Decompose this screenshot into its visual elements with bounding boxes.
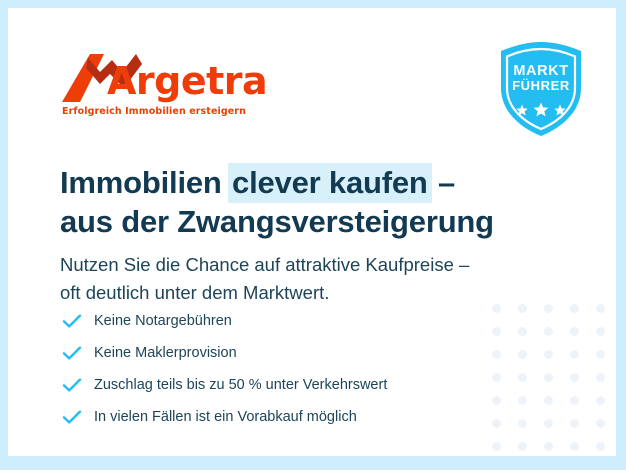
- dot: [596, 373, 605, 382]
- dot: [596, 304, 605, 313]
- dot: [570, 419, 579, 428]
- dot: [596, 442, 605, 451]
- dot: [544, 327, 553, 336]
- dot: [544, 419, 553, 428]
- list-item-label: Zuschlag teils bis zu 50 % unter Verkehr…: [86, 377, 387, 393]
- check-icon: [62, 377, 86, 393]
- market-leader-badge: MARKT FÜHRER: [495, 40, 587, 138]
- dot: [596, 396, 605, 405]
- dot: [570, 442, 579, 451]
- dot: [570, 396, 579, 405]
- list-item-label: Keine Notargebühren: [86, 313, 232, 329]
- subtitle-line-1: Nutzen Sie die Chance auf attraktive Kau…: [60, 254, 469, 275]
- dot: [596, 419, 605, 428]
- subtitle: Nutzen Sie die Chance auf attraktive Kau…: [60, 251, 530, 307]
- badge-stars: [495, 102, 587, 121]
- dot: [518, 396, 527, 405]
- dot: [596, 350, 605, 359]
- headline-line-2: aus der Zwangsversteigerung: [60, 204, 494, 239]
- argetra-logo[interactable]: Argetra Erfolgreich Immobilien ersteiger…: [60, 50, 250, 118]
- list-item: Zuschlag teils bis zu 50 % unter Verkehr…: [62, 369, 512, 401]
- list-item-label: Keine Maklerprovision: [86, 345, 237, 361]
- subtitle-line-2: oft deutlich unter dem Marktwert.: [60, 282, 329, 303]
- dot: [544, 304, 553, 313]
- dot: [518, 327, 527, 336]
- dot: [570, 304, 579, 313]
- check-icon: [62, 345, 86, 361]
- headline-highlight: clever kaufen: [228, 163, 432, 203]
- logo-tagline: Erfolgreich Immobilien ersteigern: [62, 106, 246, 117]
- dot: [518, 373, 527, 382]
- check-icon: [62, 409, 86, 425]
- dot: [570, 327, 579, 336]
- logo-wordmark: Argetra: [107, 62, 267, 100]
- badge-line-2: FÜHRER: [495, 79, 587, 93]
- dot: [596, 327, 605, 336]
- dot: [544, 442, 553, 451]
- dot: [492, 442, 501, 451]
- dot: [518, 350, 527, 359]
- dot: [570, 373, 579, 382]
- page-title: Immobilien clever kaufen –aus der Zwangs…: [60, 163, 530, 241]
- banner-card: Argetra Erfolgreich Immobilien ersteiger…: [8, 8, 616, 456]
- dot: [570, 350, 579, 359]
- dot: [544, 350, 553, 359]
- dot: [518, 419, 527, 428]
- list-item: Keine Maklerprovision: [62, 337, 512, 369]
- badge-text: MARKT FÜHRER: [495, 64, 587, 93]
- promo-banner: Argetra Erfolgreich Immobilien ersteiger…: [0, 0, 626, 470]
- check-icon: [62, 313, 86, 329]
- dot: [544, 373, 553, 382]
- dot: [518, 442, 527, 451]
- badge-line-1: MARKT: [495, 64, 587, 79]
- headline-part-before: Immobilien: [60, 165, 230, 200]
- benefits-list: Keine Notargebühren Keine Maklerprovisio…: [62, 305, 512, 433]
- list-item-label: In vielen Fällen ist ein Vorabkauf mögli…: [86, 409, 357, 425]
- list-item: Keine Notargebühren: [62, 305, 512, 337]
- list-item: In vielen Fällen ist ein Vorabkauf mögli…: [62, 401, 512, 433]
- dot: [544, 396, 553, 405]
- dot-row: [492, 442, 616, 451]
- headline-part-after: –: [430, 165, 455, 200]
